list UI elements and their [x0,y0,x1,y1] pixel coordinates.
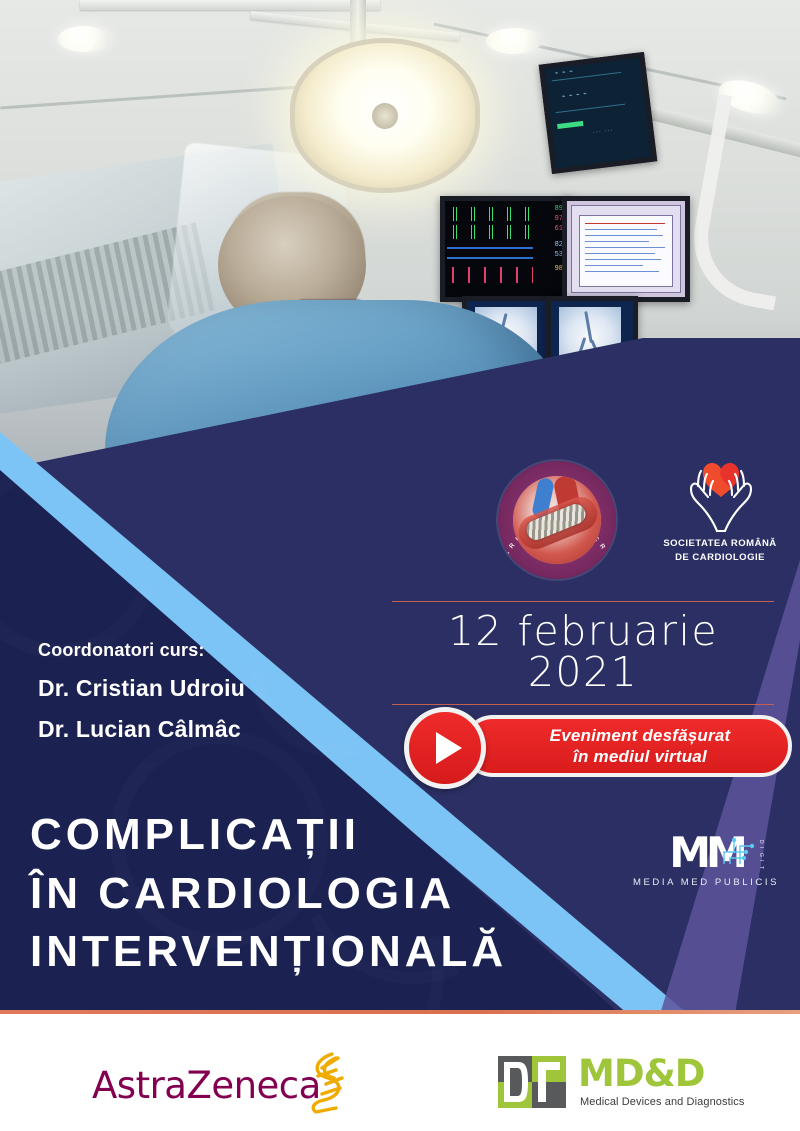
society-name-line1: SOCIETATEA ROMÂNĂ [640,537,800,551]
mdd-logo: MD&D Medical Devices and Diagnostics [498,1054,748,1114]
coordinators-block: Coordonatori curs: Dr. Cristian Udroiu D… [38,640,368,743]
poster-title: COMPLICAȚII ÎN CARDIOLOGIA INTERVENȚIONA… [30,806,630,982]
virtual-event-badge[interactable]: Eveniment desfășurat în mediul virtual [402,707,792,789]
mmp-tagline: MEDIA MED PUBLICIS [630,877,782,888]
society-name: SOCIETATEA ROMÂNĂ DE CARDIOLOGIE [640,537,800,566]
play-icon[interactable] [404,707,486,789]
play-triangle [436,732,462,764]
mdd-tagline: Medical Devices and Diagnostics [580,1096,745,1108]
virtual-event-text: Eveniment desfășurat în mediul virtual [524,725,731,768]
emblem-stent-illustration [513,476,601,564]
coordinator-name-2: Dr. Lucian Câlmâc [38,716,368,743]
event-date: 12 februarie 2021 [392,611,774,693]
coordinator-name-1: Dr. Cristian Udroiu [38,675,368,702]
virtual-event-line2: în mediul virtual [550,746,731,767]
virtual-event-line1: Eveniment desfășurat [550,725,731,746]
svg-text:I: I [758,860,764,861]
media-med-publicis-logo: MM D I G I T MEDIA MED PUBLICIS [630,828,782,888]
circuit-trace-icon: D I G I T [720,830,774,872]
society-name-line2: DE CARDIOLOGIE [640,551,800,565]
romanian-society-of-cardiology-logo: SOCIETATEA ROMÂNĂ DE CARDIOLOGIE [640,455,800,590]
astrazeneca-helix-icon [292,1052,350,1114]
mdd-wordmark: MD&D [578,1052,705,1095]
sponsor-bar: AstraZeneca [0,1014,800,1131]
event-date-box: 12 februarie 2021 [392,601,774,705]
mdd-monogram-icon [498,1056,566,1108]
poster-title-line1: COMPLICAȚII [30,806,630,865]
poster-title-line2: ÎN CARDIOLOGIA [30,865,630,924]
svg-text:G: G [758,853,764,857]
organizer-logos: G R U P U L D E L U C R U C A R D I O L [490,455,800,590]
svg-text:I: I [758,847,764,848]
hands-holding-heart-icon [686,459,756,533]
astrazeneca-wordmark: AstraZeneca [92,1064,321,1107]
coordinators-label: Coordonatori curs: [38,640,368,661]
working-group-emblem-icon: G R U P U L D E L U C R U C A R D I O L [498,461,616,579]
astrazeneca-logo: AstraZeneca [92,1056,352,1112]
svg-text:T: T [758,866,764,869]
poster-root: ⌁ ⌁ ⌁ ⌁ ⌁ ⌁ ⌁ ··· ··· 89 97 61 82 53 98 [0,0,800,1131]
svg-text:D: D [758,840,764,844]
poster-title-line3: INTERVENȚIONALĂ [30,923,630,982]
virtual-event-pill[interactable]: Eveniment desfășurat în mediul virtual [462,715,792,777]
